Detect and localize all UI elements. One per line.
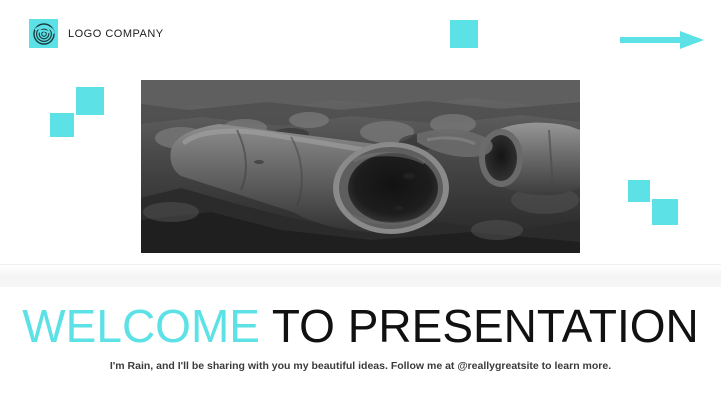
decorative-square-top-center (450, 20, 478, 48)
logo-lockup[interactable]: LOGO COMPANY (29, 19, 164, 48)
subtitle-text: I'm Rain, and I'll be sharing with you m… (0, 359, 721, 374)
decorative-square-right-lower (652, 199, 678, 225)
logo-company-name: LOGO COMPANY (68, 28, 164, 40)
section-divider-band (0, 264, 721, 287)
headline-rest-text: TO PRESENTATION (260, 300, 699, 352)
decorative-square-left-upper (76, 87, 104, 115)
spiral-swirl-icon (29, 19, 58, 48)
presentation-slide: LOGO COMPANY (0, 0, 721, 405)
decorative-square-left-lower (50, 113, 74, 137)
arrow-right-icon (620, 29, 704, 51)
decorative-square-right-upper (628, 180, 650, 202)
headline-accent-word: WELCOME (22, 300, 260, 352)
page-title: WELCOME TO PRESENTATION (0, 301, 721, 351)
hero-photo-concrete-pipes (141, 80, 580, 253)
